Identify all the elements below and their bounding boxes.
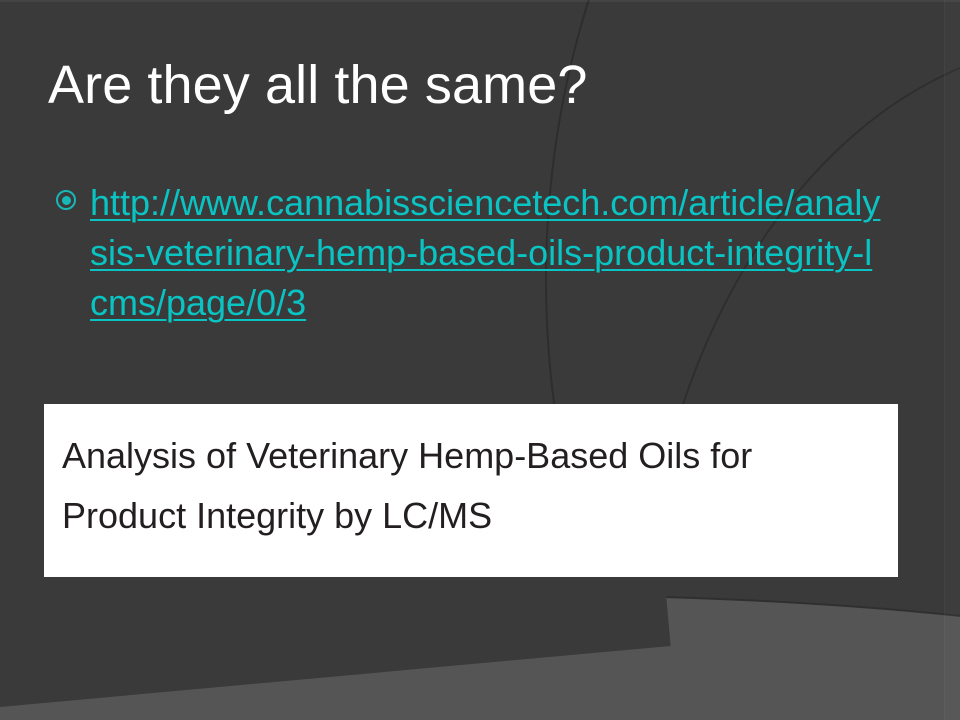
article-screenshot-card: Analysis of Veterinary Hemp-Based Oils f… <box>44 404 898 577</box>
slide-content: Are they all the same? http://www.cannab… <box>0 0 960 720</box>
article-title-text: Analysis of Veterinary Hemp-Based Oils f… <box>62 426 880 546</box>
presentation-slide: Are they all the same? http://www.cannab… <box>0 0 960 720</box>
bullet-list-item: http://www.cannabissciencetech.com/artic… <box>56 178 886 328</box>
target-ring-bullet-icon <box>56 190 76 210</box>
slide-title: Are they all the same? <box>48 54 908 116</box>
article-hyperlink[interactable]: http://www.cannabissciencetech.com/artic… <box>90 178 886 328</box>
